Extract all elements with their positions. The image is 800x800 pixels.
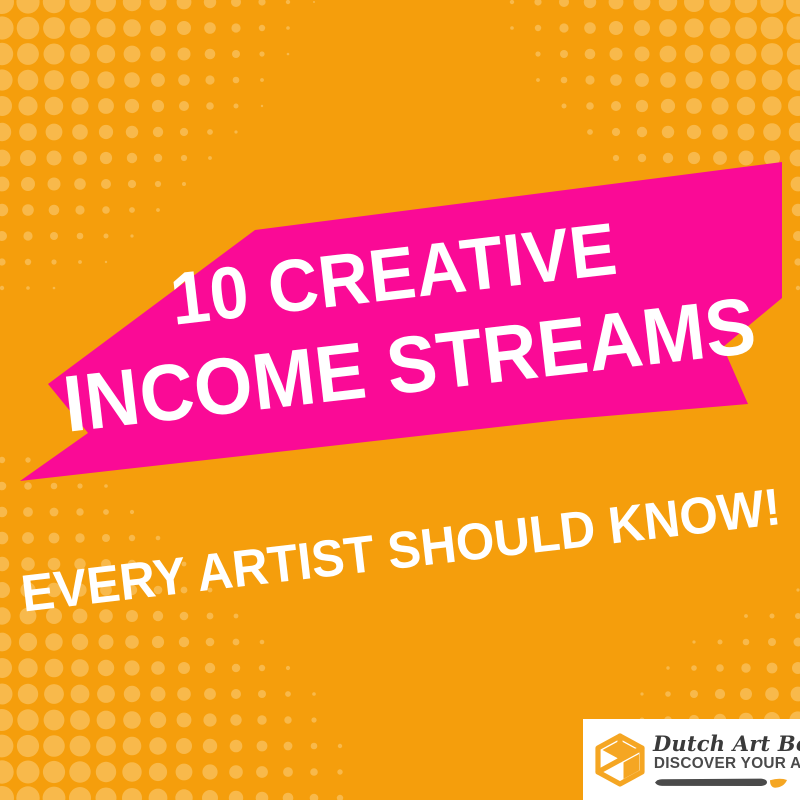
- box-cube-icon: [591, 731, 649, 789]
- logo-text-block: Dutch Art Box DISCOVER YOUR ART: [653, 730, 800, 789]
- brand-tagline: DISCOVER YOUR ART: [654, 755, 800, 773]
- poster-canvas: 10 CREATIVE INCOME STREAMS EVERY ARTIST …: [0, 0, 800, 800]
- brand-logo-badge[interactable]: Dutch Art Box DISCOVER YOUR ART: [583, 719, 800, 800]
- brand-name: Dutch Art Box: [653, 732, 800, 755]
- brush-stroke-icon: [653, 776, 789, 789]
